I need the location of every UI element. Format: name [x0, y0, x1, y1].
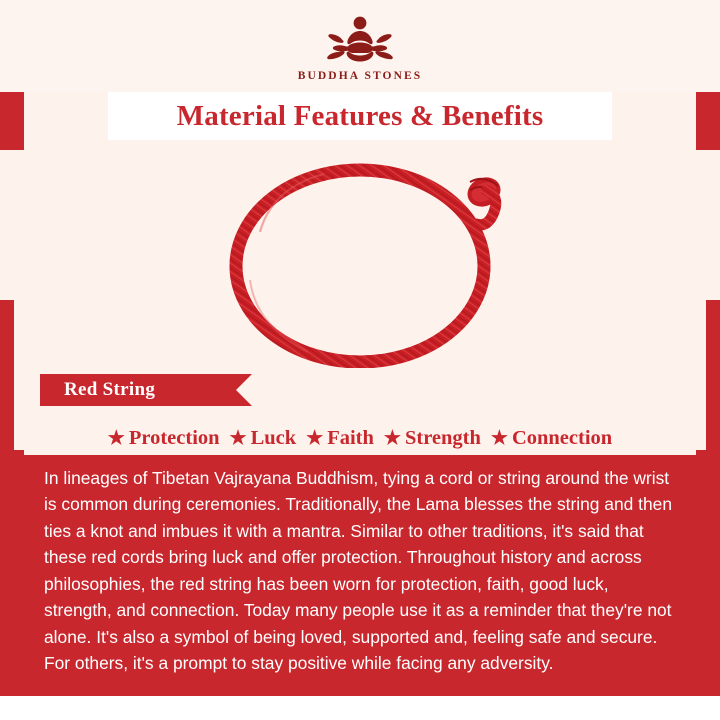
star-icon: ★ [491, 429, 508, 448]
benefit-label: Strength [405, 427, 481, 450]
benefit-label: Luck [251, 427, 297, 450]
red-braided-string-bracelet-image [24, 140, 696, 368]
star-icon: ★ [384, 429, 401, 448]
benefit-item-faith: ★ Faith [306, 427, 374, 450]
benefit-item-luck: ★ Luck [230, 427, 297, 450]
description-text: In lineages of Tibetan Vajrayana Buddhis… [44, 465, 678, 677]
benefit-label: Faith [327, 427, 374, 450]
lotus-meditation-figure-icon [312, 10, 408, 68]
infographic-page: BUDDHA STONES Material Features & Benefi… [0, 0, 720, 720]
product-image [24, 140, 696, 368]
benefits-list: ★ Protection ★ Luck ★ Faith ★ Strength ★… [24, 420, 696, 456]
star-icon: ★ [108, 429, 125, 448]
decor-edge-right-middle [706, 300, 720, 450]
star-icon: ★ [306, 429, 323, 448]
star-icon: ★ [230, 429, 247, 448]
benefit-label: Protection [129, 427, 220, 450]
benefit-item-connection: ★ Connection [491, 427, 612, 450]
benefit-label: Connection [512, 427, 612, 450]
page-title: Material Features & Benefits [108, 92, 612, 140]
decor-edge-bottom-left [0, 450, 24, 720]
decor-edge-left-middle [0, 300, 14, 450]
decor-edge-bottom-right [696, 450, 720, 720]
description-block: In lineages of Tibetan Vajrayana Buddhis… [24, 455, 696, 696]
product-label-tab: Red String [40, 374, 236, 406]
brand-logo: BUDDHA STONES [0, 10, 720, 82]
decor-bottom-strip [0, 696, 720, 720]
benefit-item-strength: ★ Strength [384, 427, 481, 450]
benefit-item-protection: ★ Protection [108, 427, 220, 450]
brand-name: BUDDHA STONES [0, 70, 720, 82]
page-title-text: Material Features & Benefits [177, 100, 544, 133]
product-label-text: Red String [64, 379, 155, 401]
